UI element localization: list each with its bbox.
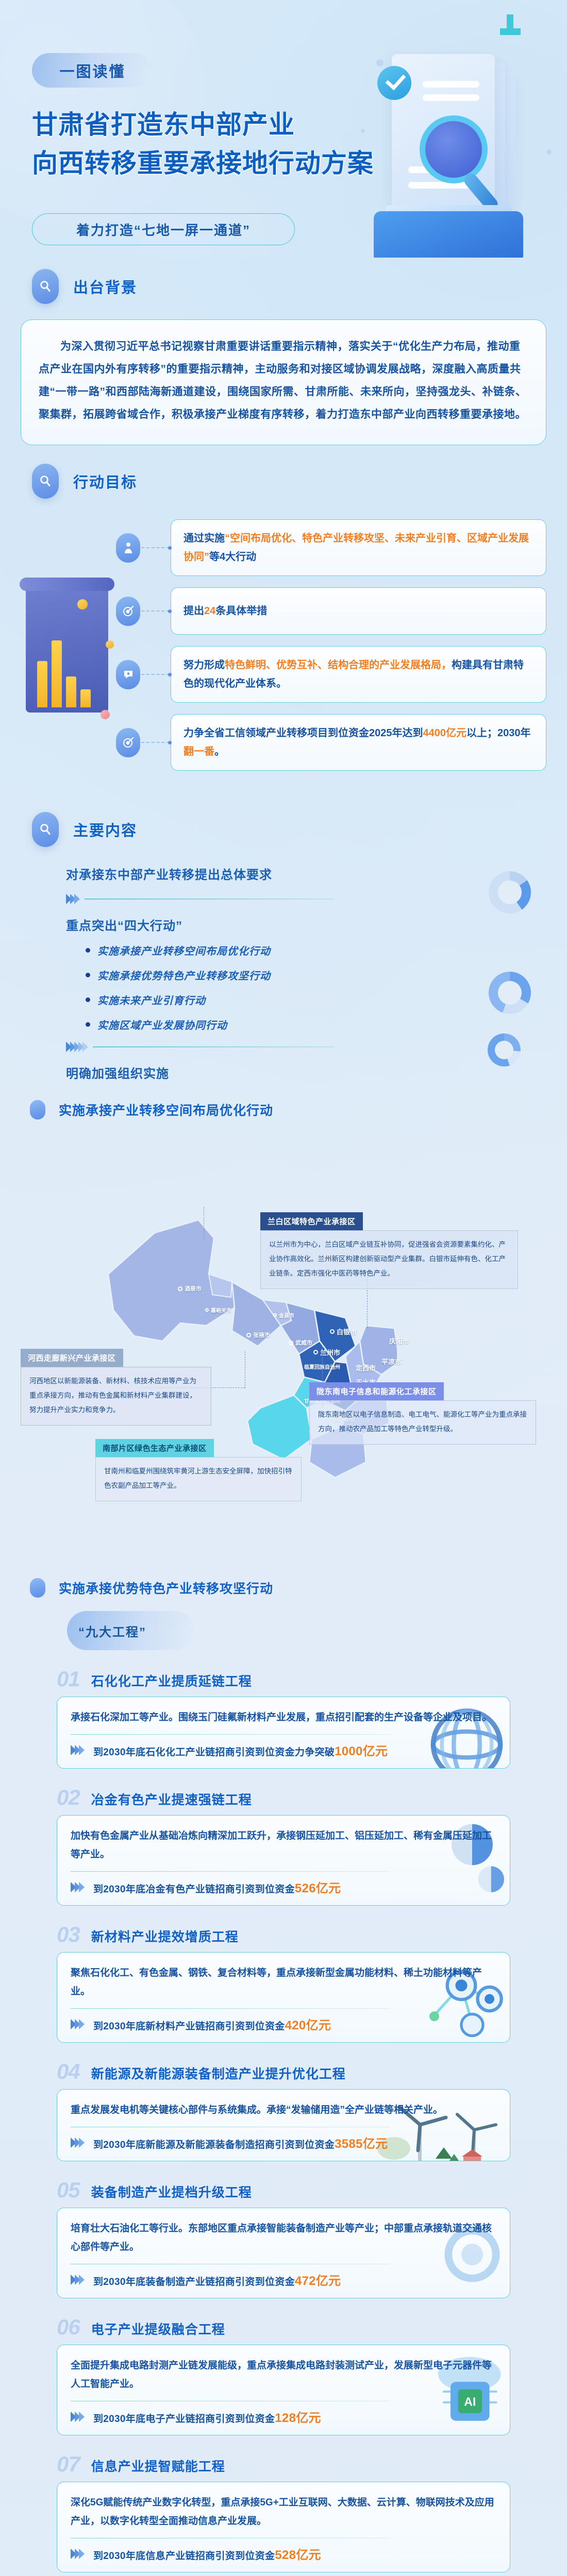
project-body: 聚焦石化化工、有色金属、钢铁、复合材料等，重点承接新型金属功能材料、稀土功能材料…	[57, 1952, 510, 2043]
project-footnote: 到2030年底新材料产业链招商引资到位资金420亿元	[71, 2015, 496, 2033]
project-number: 07	[57, 2454, 80, 2475]
project-card-01: 01 石化化工产业提质延链工程 承接石化深加工等产业。围绕玉门硅氟新材料产业发展…	[57, 1669, 510, 1769]
search-icon	[32, 812, 59, 847]
project-desc: 承接石化深加工等产业。围绕玉门硅氟新材料产业发展，重点招引配套的生产设备等企业及…	[71, 1708, 496, 1727]
goal-text: 通过实施“空间布局优化、特色产业转移攻坚、未来产业引育、区域产业发展协同”等4大…	[184, 529, 533, 566]
project-card-05: 05 装备制造产业提档升级工程 培育壮大石油化工等行业。东部地区重点承接智能装备…	[57, 2180, 510, 2298]
chevron-right-icon	[66, 894, 78, 904]
main-content-section: 主要内容 对承接东中部产业转移提出总体要求 重点突出“四大行动” 实施承接产业转…	[0, 812, 567, 1081]
map-city-label: 兰州市	[313, 1347, 340, 1357]
main-content-title: 主要内容	[73, 819, 137, 840]
project-desc: 深化5G赋能传统产业数字化转型，重点承接5G+工业互联网、大数据、云计算、物联网…	[71, 2494, 496, 2531]
nine-projects-tag: “九大工程”	[67, 1611, 195, 1650]
goal-text: 提出24条具体举措	[184, 602, 267, 620]
map-city-label: 嘉峪关市	[205, 1306, 231, 1314]
project-body: 承接石化深加工等产业。围绕玉门硅氟新材料产业发展，重点招引配套的生产设备等企业及…	[57, 1697, 510, 1769]
project-title: 装备制造产业提档升级工程	[91, 2185, 252, 2200]
slogan-badge: 着力打造“七地一屏一通道”	[32, 213, 295, 245]
project-header: 05 装备制造产业提档升级工程	[57, 2180, 510, 2200]
project-title: 新材料产业提效增质工程	[91, 1929, 239, 1945]
project-footnote: 到2030年底信息产业链招商引资到位资金528亿元	[71, 2545, 496, 2563]
goal-card: 提出24条具体举措	[171, 587, 546, 635]
project-title: 电子产业提级融合工程	[91, 2322, 225, 2337]
project-body: 深化5G赋能传统产业数字化转型，重点承接5G+工业互联网、大数据、云计算、物联网…	[57, 2482, 510, 2572]
project-card-03: 03 新材料产业提效增质工程 聚焦石化化工、有色金属、钢铁、复合材料等，重点承接…	[57, 1924, 510, 2043]
project-header: 03 新材料产业提效增质工程	[57, 1924, 510, 1945]
search-icon	[32, 269, 59, 304]
project-desc: 培育壮大石油化工等行业。东部地区重点承接智能装备制造产业等产业；中部重点承接轨道…	[71, 2219, 496, 2257]
bullet-icon	[86, 997, 90, 1002]
project-number: 06	[57, 2317, 80, 2337]
title-line-2: 向西转移重要承接地行动方案	[32, 144, 444, 183]
yitu-badge-label: 一图读懂	[59, 60, 125, 81]
chevron-right-icon	[71, 2275, 83, 2285]
project-number: 02	[57, 1787, 80, 1808]
nine-projects-tag-label: “九大工程”	[78, 1622, 146, 1640]
map-city-label: 平凉市	[381, 1357, 402, 1366]
map-city-label: 张掖市	[246, 1331, 270, 1339]
map-city-label: 定西市	[356, 1363, 376, 1372]
project-card-07: 07 信息产业提智赋能工程 深化5G赋能传统产业数字化转型，重点承接5G+工业互…	[57, 2454, 510, 2572]
connector-dash	[141, 547, 170, 548]
project-footnote: 到2030年底电子产业链招商引资到位资金128亿元	[71, 2408, 496, 2426]
platform-base	[374, 211, 523, 258]
chevron-right-icon	[71, 2138, 83, 2148]
callout-longdongnan: 陇东南电子信息和能源化工承接区 陇东南地区以电子信息制造、电工电气、能源化工等产…	[309, 1382, 536, 1445]
main-content-lead: 对承接东中部产业转移提出总体要求	[66, 865, 567, 883]
goal-card: 努力形成特色鲜明、优势互补、结构合理的产业发展格局，构建具有甘肃特色的现代化产业…	[171, 646, 546, 703]
callout-title: 兰白区域特色产业承接区	[260, 1212, 363, 1230]
chevron-right-icon	[71, 2549, 83, 2559]
project-desc: 聚焦石化化工、有色金属、钢铁、复合材料等，重点承接新型金属功能材料、稀土功能材料…	[71, 1964, 496, 2001]
callout-body: 河西地区以新能源装备、新材料、核技术应用等产业为重点承接方向，推动有色金属和新材…	[21, 1367, 211, 1426]
donut-decoration	[488, 1033, 521, 1066]
project-number: 03	[57, 1924, 80, 1945]
project-title: 石化化工产业提质延链工程	[91, 1674, 252, 1689]
target-icon	[116, 597, 140, 626]
project-body: 加快有色金属产业从基础冶炼向精深加工跃升，承接钢压延加工、铝压延加工、稀有金属压…	[57, 1815, 510, 1906]
connector-dash	[141, 674, 170, 675]
project-card-06: 06 电子产业提级融合工程 AI 全面提升集成电路封测产业链发展能级，重点承接集…	[57, 2317, 510, 2435]
project-footnote: 到2030年底装备制造产业链招商引资到位资金472亿元	[71, 2270, 496, 2289]
map-city-label: 武威市	[289, 1338, 312, 1347]
spatial-layout-heading: 实施承接产业转移空间布局优化行动	[0, 1100, 567, 1120]
goals-section: 行动目标 通过实施“空间布局优化、特色产业转移攻坚、未来产	[0, 464, 567, 789]
goal-card: 通过实施“空间布局优化、特色产业转移攻坚、未来产业引育、区域产业发展协同”等4大…	[171, 519, 546, 576]
background-section: 出台背景 为深入贯彻习近平总书记视察甘肃重要讲话重要指示精神，落实关于“优化生产…	[0, 269, 567, 445]
spatial-layout-section: 实施承接产业转移空间布局优化行动	[0, 1100, 567, 1578]
callout-title: 南部片区绿色生态产业承接区	[95, 1439, 214, 1457]
main-content-tail: 明确加强组织实施	[66, 1063, 567, 1081]
map-city-label: 白银市	[330, 1327, 357, 1336]
project-card-02: 02 冶金有色产业提速强链工程 加快有色金属产业从基础冶炼向精深加工跃升，承接钢…	[57, 1787, 510, 1906]
project-number: 01	[57, 1669, 80, 1689]
project-body: AI 全面提升集成电路封测产业链发展能级，重点承接集成电路封装测试产业，发展新型…	[57, 2345, 510, 2435]
callout-body: 以兰州市为中心，兰白区域产业链互补协同，促进强省会资源要素集约化、产业协作高效化…	[260, 1230, 518, 1289]
goal-row: 努力形成特色鲜明、优势互补、结构合理的产业发展格局，构建具有甘肃特色的现代化产业…	[0, 646, 567, 703]
project-desc: 重点发展发电机等关键核心部件与系统集成。承接“发输储用造”全产业链等相关产业。	[71, 2101, 496, 2120]
target-icon	[116, 728, 140, 757]
bullet-icon	[86, 948, 90, 953]
callout-connector	[204, 1207, 204, 1239]
divider	[66, 894, 334, 904]
project-title: 信息产业提智赋能工程	[91, 2459, 225, 2475]
list-item: 实施区域产业发展协同行动	[86, 1017, 567, 1032]
connector-dash	[141, 742, 170, 743]
project-desc: 全面提升集成电路封测产业链发展能级，重点承接集成电路封装测试产业，发展新型电子元…	[71, 2357, 496, 2394]
callout-title: 河西走廊新兴产业承接区	[21, 1349, 123, 1367]
project-header: 06 电子产业提级融合工程	[57, 2317, 510, 2337]
bullet-icon	[86, 1022, 90, 1027]
callout-nanbu: 南部片区绿色生态产业承接区 甘南州和临夏州围绕筑牢黄河上游生态安全屏障，加快招引…	[95, 1439, 302, 1501]
goal-text: 力争全省工信领域产业转移项目到位资金2025年达到4400亿元以上；2030年翻…	[184, 724, 533, 761]
chevron-right-icon	[66, 1042, 87, 1052]
callout-hexi: 河西走廊新兴产业承接区 河西地区以新能源装备、新材料、核技术应用等产业为重点承接…	[21, 1349, 211, 1426]
search-icon	[32, 464, 59, 499]
nine-projects-title: 实施承接优势特色产业转移攻坚行动	[59, 1579, 273, 1597]
chevron-right-icon	[71, 1745, 83, 1755]
goal-row: 力争全省工信领域产业转移项目到位资金2025年达到4400亿元以上；2030年翻…	[0, 714, 567, 771]
plus-icon	[507, 14, 513, 35]
callout-title: 陇东南电子信息和能源化工承接区	[309, 1382, 444, 1400]
goal-row: 通过实施“空间布局优化、特色产业转移攻坚、未来产业引育、区域产业发展协同”等4大…	[0, 519, 567, 576]
checkmark-icon	[377, 66, 411, 100]
goals-list: 通过实施“空间布局优化、特色产业转移攻坚、未来产业引育、区域产业发展协同”等4大…	[0, 519, 567, 789]
decor-dot	[546, 149, 552, 155]
project-number: 05	[57, 2180, 80, 2200]
chevron-right-icon	[71, 2019, 83, 2029]
project-title: 新能源及新能源装备制造产业提升优化工程	[91, 2066, 346, 2082]
map-city-label: 金昌市	[273, 1311, 294, 1319]
spatial-layout-title: 实施承接产业转移空间布局优化行动	[59, 1100, 273, 1119]
goals-title: 行动目标	[73, 470, 137, 492]
nine-projects-section: 实施承接优势特色产业转移攻坚行动 “九大工程” 01 石化化工产业提质延链工程 …	[0, 1578, 567, 2576]
callout-lanbai: 兰白区域特色产业承接区 以兰州市为中心，兰白区域产业链互补协同，促进强省会资源要…	[260, 1212, 518, 1289]
background-text: 为深入贯彻习近平总书记视察甘肃重要讲话重要指示精神，落实关于“优化生产力布局，推…	[39, 335, 528, 426]
project-header: 01 石化化工产业提质延链工程	[57, 1669, 510, 1689]
main-content-sub: 重点突出“四大行动”	[66, 916, 567, 934]
project-desc: 加快有色金属产业从基础冶炼向精深加工跃升，承接钢压延加工、铝压延加工、稀有金属压…	[71, 1827, 496, 1864]
slogan-text: 着力打造“七地一屏一通道”	[76, 220, 251, 239]
main-content-heading: 主要内容	[0, 812, 567, 847]
background-title: 出台背景	[73, 276, 137, 297]
callout-body: 陇东南地区以电子信息制造、电工电气、能源化工等产业为重点承接方向，推动农产品加工…	[309, 1400, 536, 1445]
connector-dash	[141, 611, 170, 612]
list-item: 实施承接产业转移空间布局优化行动	[86, 943, 567, 958]
main-content-body: 对承接东中部产业转移提出总体要求 重点突出“四大行动” 实施承接产业转移空间布局…	[0, 847, 567, 1081]
bullet-marker-icon	[30, 1578, 45, 1598]
map-city-label: 酒泉市	[178, 1284, 202, 1293]
project-footnote: 到2030年底冶金有色产业链招商引资到位资金526亿元	[71, 1878, 496, 1896]
title-line-1: 甘肃省打造东中部产业	[32, 106, 444, 144]
goal-card: 力争全省工信领域产业转移项目到位资金2025年达到4400亿元以上；2030年翻…	[171, 714, 546, 771]
background-card: 为深入贯彻习近平总书记视察甘肃重要讲话重要指示精神，落实关于“优化生产力布局，推…	[21, 319, 546, 445]
donut-decoration	[489, 972, 531, 1014]
project-footnote: 到2030年底石化化工产业链招商引资到位资金力争突破1000亿元	[71, 1741, 496, 1759]
map-city-label: 庆阳市	[389, 1336, 409, 1346]
callout-body: 甘南州和临夏州围绕筑牢黄河上游生态安全屏障，加快招引特色农副产品加工等产业。	[95, 1457, 302, 1501]
chevron-right-icon	[71, 2412, 83, 2422]
page-title: 甘肃省打造东中部产业 向西转移重要承接地行动方案	[32, 106, 444, 183]
project-header: 02 冶金有色产业提速强链工程	[57, 1787, 510, 1808]
chevron-right-icon	[71, 1882, 83, 1892]
goals-heading: 行动目标	[0, 464, 567, 499]
decor-dot	[376, 59, 383, 66]
svg-text:AI: AI	[464, 2395, 476, 2408]
project-body: 重点发展发电机等关键核心部件与系统集成。承接“发输储用造”全产业链等相关产业。 …	[57, 2089, 510, 2161]
chat-icon	[116, 660, 140, 689]
infographic-page: 一图读懂 甘肃省打造东中部产业 向西转移重要承接地行动方案 着力打造“七地一屏一…	[0, 0, 567, 2576]
divider	[66, 1042, 334, 1052]
hero-banner: 一图读懂 甘肃省打造东中部产业 向西转移重要承接地行动方案 着力打造“七地一屏一…	[0, 0, 567, 258]
bullet-icon	[86, 973, 90, 977]
project-body: 培育壮大石油化工等行业。东部地区重点承接智能装备制造产业等产业；中部重点承接轨道…	[57, 2208, 510, 2298]
nine-projects-heading: 实施承接优势特色产业转移攻坚行动	[0, 1578, 567, 1598]
project-header: 07 信息产业提智赋能工程	[57, 2454, 510, 2475]
background-heading: 出台背景	[0, 269, 567, 304]
bullet-marker-icon	[30, 1100, 45, 1120]
project-title: 冶金有色产业提速强链工程	[91, 1792, 252, 1808]
project-header: 04 新能源及新能源装备制造产业提升优化工程	[57, 2061, 510, 2082]
goal-row: 提出24条具体举措	[0, 587, 567, 635]
person-icon	[116, 533, 140, 563]
gansu-map: 酒泉市 嘉峪关市 张掖市 金昌市 武威市 白银市 兰州市 定西市 临夏回族自治州…	[0, 1125, 567, 1578]
goal-text: 努力形成特色鲜明、优势互补、结构合理的产业发展格局，构建具有甘肃特色的现代化产业…	[184, 656, 533, 693]
project-footnote: 到2030年底新能源及新能源装备制造招商引资到位资金3585亿元	[71, 2133, 496, 2151]
donut-decoration	[489, 871, 531, 913]
callout-connector	[245, 1351, 245, 1388]
yitu-badge: 一图读懂	[32, 53, 153, 88]
project-card-04: 04 新能源及新能源装备制造产业提升优化工程	[57, 2061, 510, 2161]
project-number: 04	[57, 2061, 80, 2082]
